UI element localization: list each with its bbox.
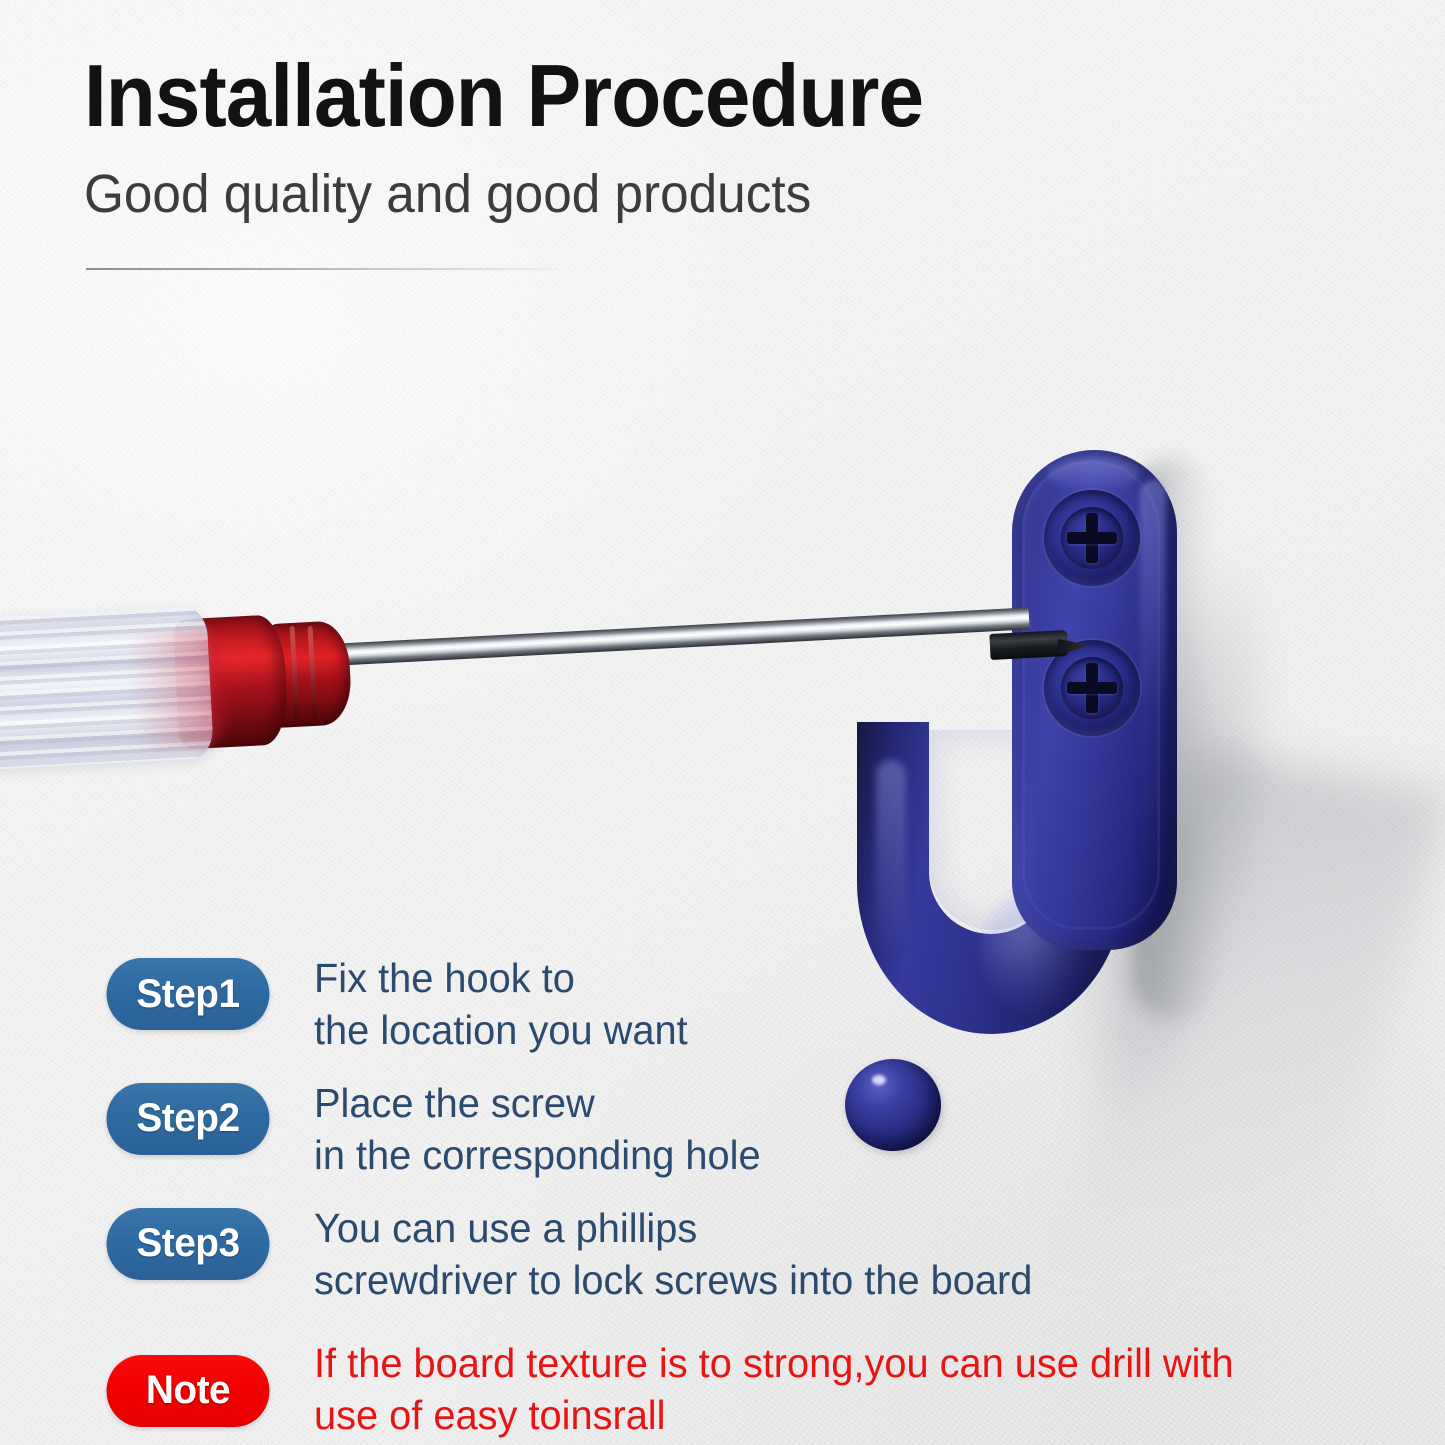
page-title: Installation Procedure [84,52,1200,140]
step-row: Step2 Place the screw in the correspondi… [104,1083,1364,1182]
step-description-1: Fix the hook to the location you want [314,952,688,1057]
note-badge: Note [107,1355,270,1427]
step-description-3: You can use a phillips screwdriver to lo… [314,1202,1032,1307]
page-subtitle: Good quality and good products [84,166,1224,223]
step-line-2: in the corresponding hole [314,1129,761,1181]
screw-hole-top [1044,490,1140,586]
note-description: If the board texture is to strong,you ca… [314,1337,1234,1442]
note-row: Note If the board texture is to strong,y… [104,1347,1364,1442]
screwdriver [0,620,1080,840]
header-divider [86,268,574,270]
hook-plate-edge-highlight [1140,480,1166,900]
step-description-2: Place the screw in the corresponding hol… [314,1077,761,1182]
screwdriver-handle [0,606,214,773]
note-line-2: use of easy toinsrall [314,1389,1234,1441]
step-badge-3: Step3 [107,1208,270,1280]
header: Installation Procedure Good quality and … [84,52,1284,223]
step-line-1: You can use a phillips [314,1202,1032,1254]
step-line-1: Fix the hook to [314,952,688,1004]
note-line-1: If the board texture is to strong,you ca… [314,1337,1234,1389]
phillips-screw-icon-top [1061,507,1123,569]
installation-procedure-page: Installation Procedure Good quality and … [0,0,1445,1445]
step-row: Step3 You can use a phillips screwdriver… [104,1208,1364,1307]
screwdriver-shaft [329,607,1029,666]
step-badge-2: Step2 [107,1083,270,1155]
step-line-2: screwdriver to lock screws into the boar… [314,1254,1032,1306]
screwdriver-tip [989,630,1068,660]
screw-cross-horizontal [1067,532,1117,544]
hook-plate-top-highlight [1048,458,1140,492]
step-row: Step1 Fix the hook to the location you w… [104,958,1364,1057]
step-badge-1: Step1 [107,958,270,1030]
step-line-1: Place the screw [314,1077,761,1129]
step-line-2: the location you want [314,1004,688,1056]
steps-list: Step1 Fix the hook to the location you w… [104,958,1364,1442]
